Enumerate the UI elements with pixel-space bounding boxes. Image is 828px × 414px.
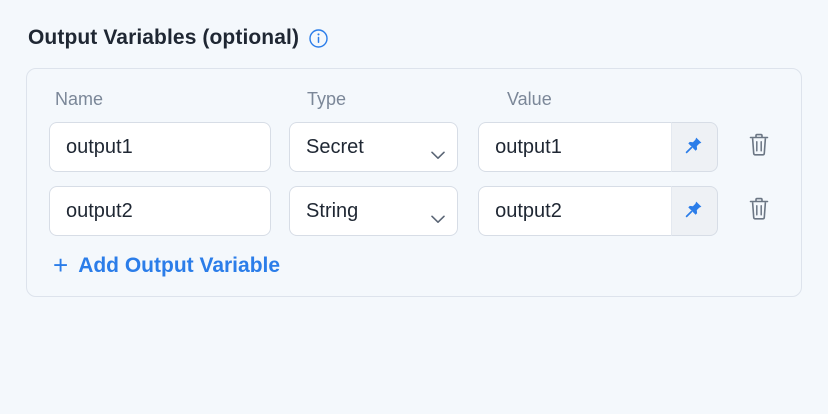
section-header: Output Variables (optional) — [28, 26, 802, 50]
value-input[interactable]: output2 — [478, 186, 671, 236]
name-input[interactable]: output2 — [49, 186, 271, 236]
table-row: output2 String output2 — [49, 186, 779, 236]
variables-panel: Name Type Value output1 Secret output1 — [26, 68, 802, 297]
value-input[interactable]: output1 — [478, 122, 671, 172]
column-header-type: Type — [299, 89, 499, 110]
chevron-down-icon — [431, 143, 445, 152]
column-header-name: Name — [49, 89, 299, 110]
info-icon[interactable] — [309, 29, 328, 48]
column-headers: Name Type Value — [49, 89, 779, 110]
type-select-value: Secret — [306, 136, 364, 159]
type-select[interactable]: Secret — [289, 122, 458, 172]
table-row: output1 Secret output1 — [49, 122, 779, 172]
delete-row-button[interactable] — [740, 189, 779, 233]
trash-icon — [747, 132, 771, 163]
output-variables-panel: Output Variables (optional) Name Type Va… — [0, 0, 828, 414]
add-output-variable-label: Add Output Variable — [78, 254, 280, 278]
add-output-variable-button[interactable]: + Add Output Variable — [53, 254, 779, 278]
pin-icon — [684, 199, 704, 224]
type-select[interactable]: String — [289, 186, 458, 236]
pin-icon — [684, 135, 704, 160]
type-select-value: String — [306, 200, 358, 223]
name-input[interactable]: output1 — [49, 122, 271, 172]
delete-row-button[interactable] — [740, 125, 779, 169]
column-header-value: Value — [499, 89, 757, 110]
pin-button[interactable] — [671, 186, 718, 236]
pin-button[interactable] — [671, 122, 718, 172]
plus-icon: + — [53, 252, 68, 278]
trash-icon — [747, 196, 771, 227]
chevron-down-icon — [431, 207, 445, 216]
page-title: Output Variables (optional) — [28, 26, 299, 50]
